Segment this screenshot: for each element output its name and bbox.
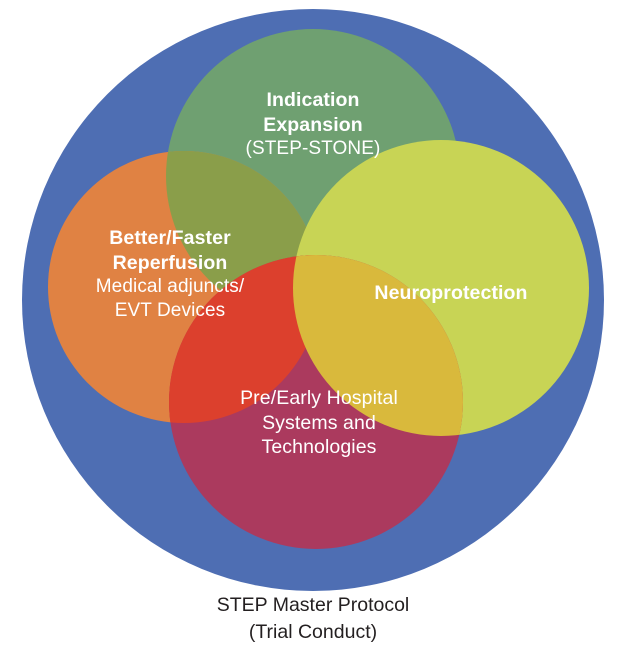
caption-line1: STEP Master Protocol	[0, 592, 626, 619]
venn-diagram-canvas	[0, 0, 626, 660]
figure-caption: STEP Master Protocol (Trial Conduct)	[0, 592, 626, 646]
caption-line2: (Trial Conduct)	[0, 619, 626, 646]
venn-diagram-figure: Indication Expansion (STEP-STONE) Better…	[0, 0, 626, 660]
